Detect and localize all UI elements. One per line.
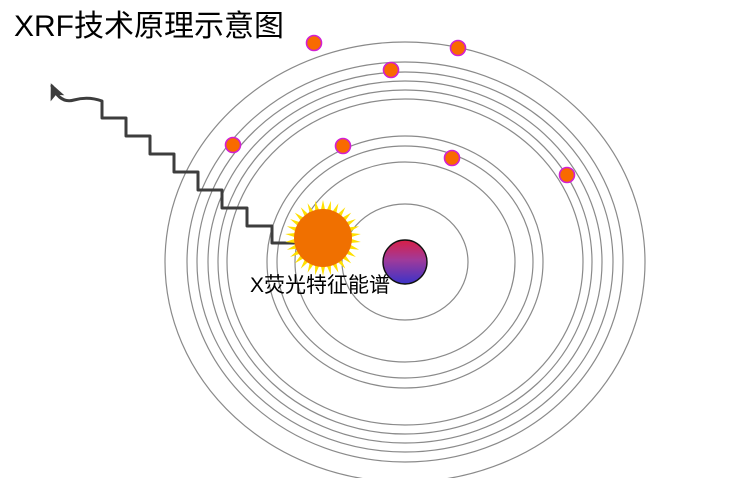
page-title: XRF技术原理示意图 [14, 10, 284, 43]
electron-4 [226, 138, 241, 153]
electron-2 [451, 41, 466, 56]
emission-label: X荧光特征能谱 [250, 274, 390, 297]
electron-5 [336, 139, 351, 154]
electron-6 [445, 151, 460, 166]
fluorescence-burst-core [294, 209, 352, 267]
background [0, 0, 756, 478]
electron-7 [560, 168, 575, 183]
xrf-principle-diagram: XRF技术原理示意图 X荧光特征能谱 [0, 0, 756, 478]
electron-1 [307, 36, 322, 51]
diagram-canvas: XRF技术原理示意图 X荧光特征能谱 [0, 0, 756, 478]
electron-3 [384, 63, 399, 78]
